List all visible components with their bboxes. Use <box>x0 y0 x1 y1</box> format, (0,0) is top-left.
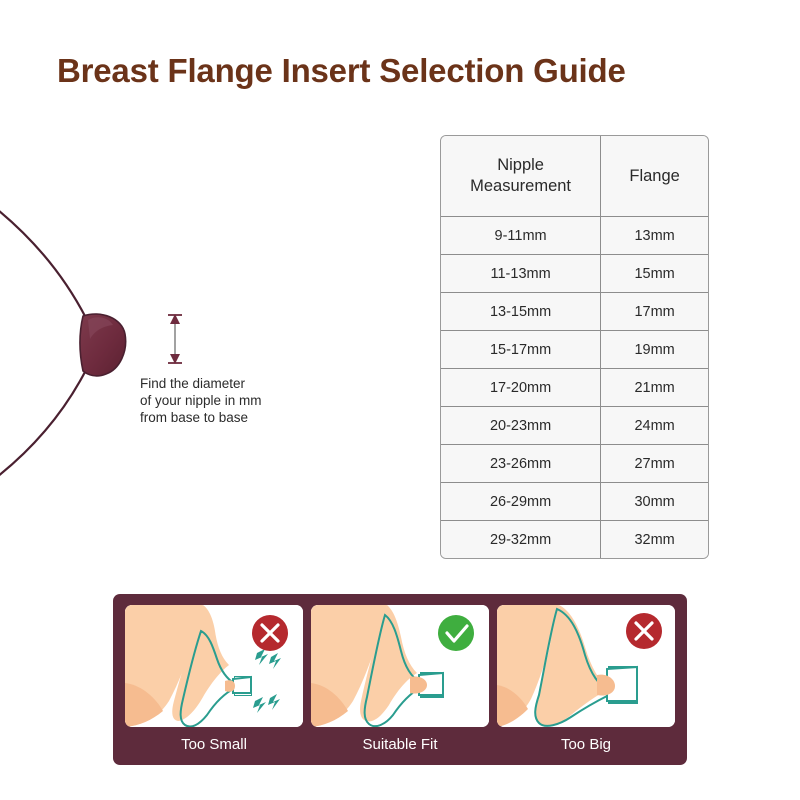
cell-flange: 24mm <box>601 407 708 445</box>
fit-item-suitable-fit: Suitable Fit <box>311 605 489 765</box>
measurement-instruction-line-3: from base to base <box>140 409 320 426</box>
cell-nipple-measurement: 11-13mm <box>441 255 601 293</box>
cell-flange: 17mm <box>601 293 708 331</box>
cross-badge <box>626 613 662 649</box>
cell-nipple-measurement: 13-15mm <box>441 293 601 331</box>
breast-body-shape <box>0 120 86 560</box>
table-row: 20-23mm 24mm <box>441 407 708 445</box>
fit-label-too-big: Too Big <box>561 736 611 753</box>
measurement-instruction-line-1: Find the diameter <box>140 375 320 392</box>
table-body: 9-11mm 13mm 11-13mm 15mm 13-15mm 17mm 15… <box>441 217 708 558</box>
column-header-flange: Flange <box>601 136 708 217</box>
cell-nipple-measurement: 29-32mm <box>441 521 601 558</box>
cell-flange: 32mm <box>601 521 708 558</box>
cell-nipple-measurement: 26-29mm <box>441 483 601 521</box>
breast-side-view-illustration <box>0 120 130 560</box>
fit-card-too-small <box>125 605 303 727</box>
nipple-diameter-arrow-icon <box>160 308 190 370</box>
cell-nipple-measurement: 20-23mm <box>441 407 601 445</box>
cell-nipple-measurement: 23-26mm <box>441 445 601 483</box>
cell-nipple-measurement: 15-17mm <box>441 331 601 369</box>
table-row: 29-32mm 32mm <box>441 521 708 558</box>
cell-flange: 27mm <box>601 445 708 483</box>
table-header-row: Nipple Measurement Flange <box>441 136 708 217</box>
cross-badge <box>252 615 288 651</box>
column-header-line-2: Measurement <box>470 177 571 195</box>
measurement-instruction-line-2: of your nipple in mm <box>140 392 320 409</box>
fit-item-too-small: Too Small <box>125 605 303 765</box>
table-row: 26-29mm 30mm <box>441 483 708 521</box>
column-header-line-1: Nipple <box>497 156 544 174</box>
cell-flange: 30mm <box>601 483 708 521</box>
check-badge <box>438 615 474 651</box>
table-row: 17-20mm 21mm <box>441 369 708 407</box>
fit-item-too-big: Too Big <box>497 605 675 765</box>
flange-fit-comparison-panel: Too Small Suitable Fit <box>113 594 687 765</box>
cell-flange: 15mm <box>601 255 708 293</box>
measurement-instructions: Find the diameter of your nipple in mm f… <box>140 375 320 426</box>
fit-card-suitable-fit <box>311 605 489 727</box>
table-row: 13-15mm 17mm <box>441 293 708 331</box>
table-row: 11-13mm 15mm <box>441 255 708 293</box>
column-header-nipple-measurement: Nipple Measurement <box>441 136 601 217</box>
page-title: Breast Flange Insert Selection Guide <box>57 52 626 90</box>
cell-nipple-measurement: 9-11mm <box>441 217 601 255</box>
table-row: 9-11mm 13mm <box>441 217 708 255</box>
nipple-tip <box>225 680 235 692</box>
fit-label-too-small: Too Small <box>181 736 247 753</box>
flange-size-table: Nipple Measurement Flange 9-11mm 13mm 11… <box>441 136 708 558</box>
cell-flange: 21mm <box>601 369 708 407</box>
fit-label-suitable-fit: Suitable Fit <box>362 736 437 753</box>
table-row: 23-26mm 27mm <box>441 445 708 483</box>
cell-flange: 13mm <box>601 217 708 255</box>
fit-card-too-big <box>497 605 675 727</box>
cell-flange: 19mm <box>601 331 708 369</box>
cell-nipple-measurement: 17-20mm <box>441 369 601 407</box>
table-row: 15-17mm 19mm <box>441 331 708 369</box>
